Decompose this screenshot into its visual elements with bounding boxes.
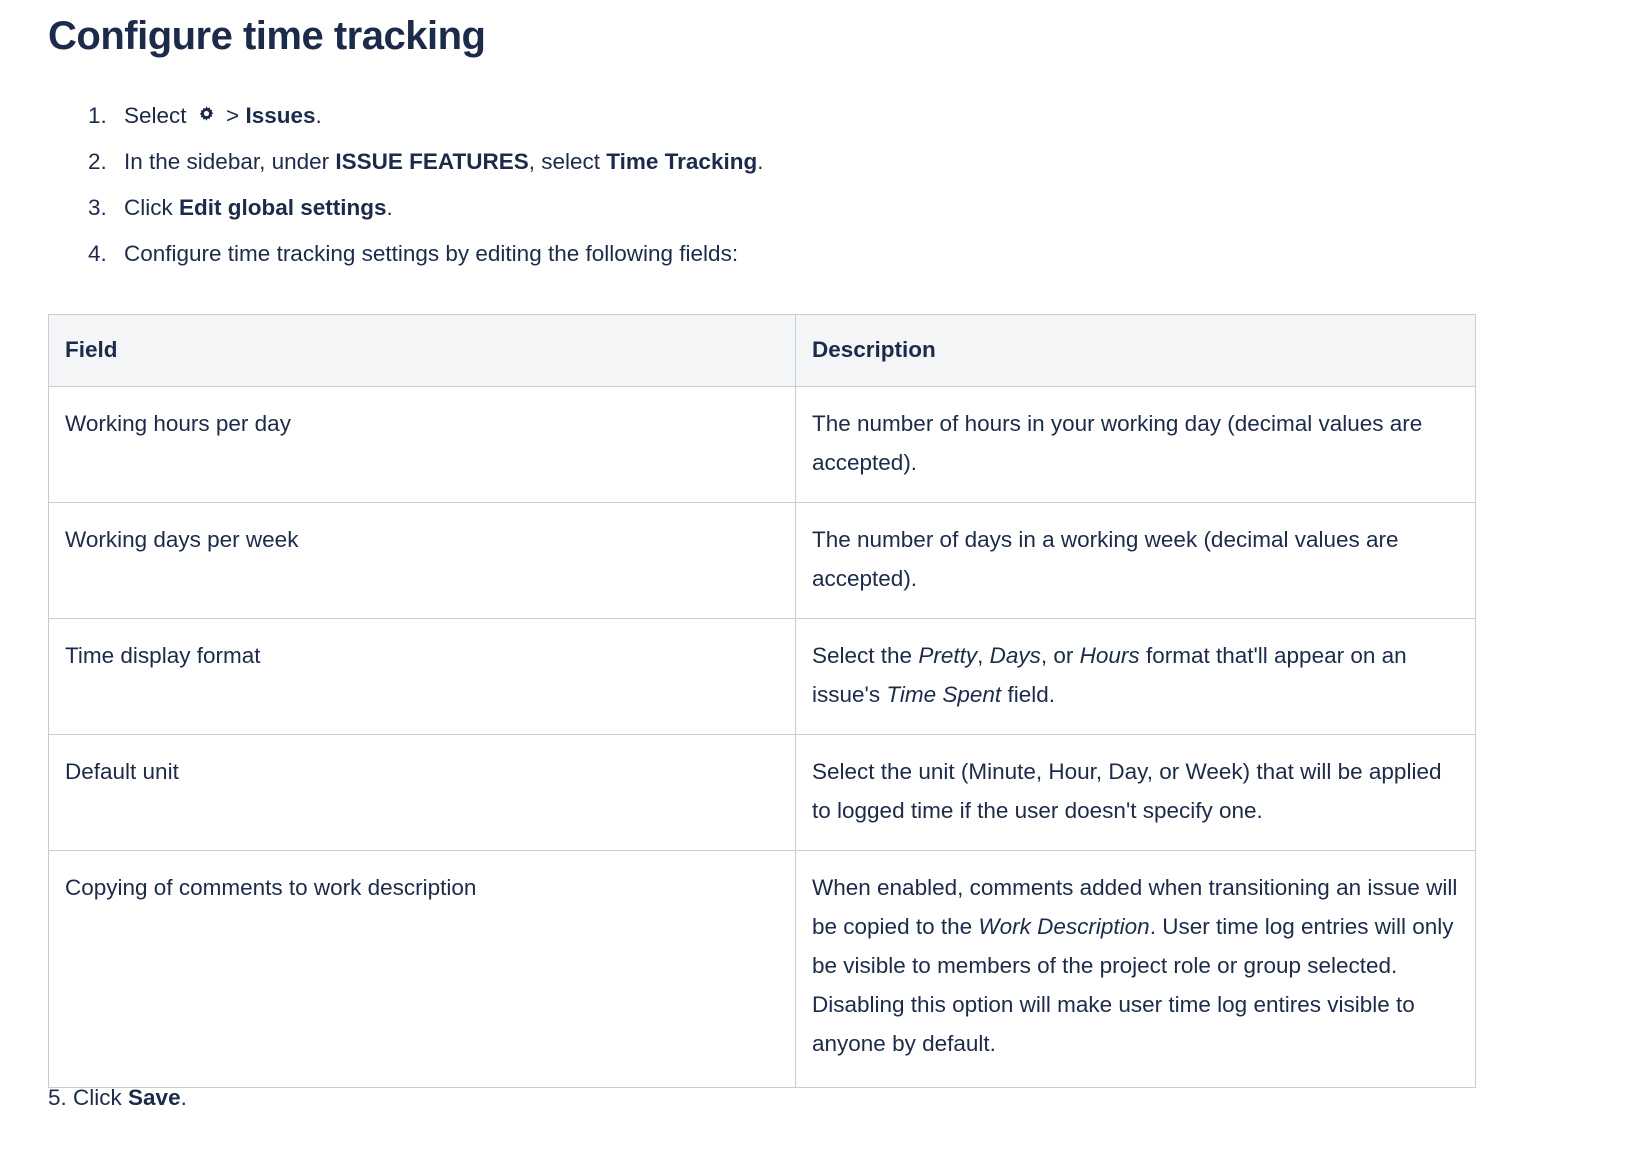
document-page: Configure time tracking 1.Select > Issue… [0,0,1640,1170]
cell-description: Select the Pretty, Days, or Hours format… [796,619,1476,735]
text-run: In the sidebar, under [124,149,335,174]
text-run: The number of days in a working week (de… [812,527,1399,591]
steps-list: 1.Select > Issues.2.In the sidebar, unde… [88,93,1548,277]
table-row: Copying of comments to work descriptionW… [49,851,1476,1088]
table-row: Time display formatSelect the Pretty, Da… [49,619,1476,735]
column-header-description: Description [796,315,1476,387]
step-text: Select > Issues. [124,103,322,128]
emphasis-bold: ISSUE FEATURES [335,149,528,174]
text-run: Select [124,103,193,128]
table-row: Default unitSelect the unit (Minute, Hou… [49,735,1476,851]
text-run: . [316,103,322,128]
cell-description: The number of days in a working week (de… [796,503,1476,619]
text-run: Configure time tracking settings by edit… [124,241,738,266]
step-marker: 1. [88,93,118,139]
text-run: Click [124,195,179,220]
table-body: Working hours per dayThe number of hours… [49,387,1476,1088]
cell-field: Working days per week [49,503,796,619]
text-run: Click [73,1085,128,1110]
page-title: Configure time tracking [48,13,485,59]
cell-field: Copying of comments to work description [49,851,796,1088]
step-item-3: 3.Click Edit global settings. [88,185,1548,231]
text-run: . [181,1085,187,1110]
step-item-1: 1.Select > Issues. [88,93,1548,139]
text-run: . [757,149,763,174]
text-run: . [387,195,393,220]
cell-description: Select the unit (Minute, Hour, Day, or W… [796,735,1476,851]
text-run: , or [1041,643,1080,668]
cell-field: Time display format [49,619,796,735]
table-header-row: Field Description [49,315,1476,387]
text-run: Select the [812,643,918,668]
step-text: Configure time tracking settings by edit… [124,241,738,266]
final-step-marker: 5. [48,1085,73,1110]
step-marker: 4. [88,231,118,277]
emphasis-italic: Work Description [978,914,1149,939]
emphasis-bold: Time Tracking [606,149,757,174]
emphasis-bold: Save [128,1085,181,1110]
step-item-2: 2.In the sidebar, under ISSUE FEATURES, … [88,139,1548,185]
emphasis-bold: Issues [245,103,315,128]
emphasis-bold: Edit global settings [179,195,387,220]
gear-icon[interactable] [196,105,217,126]
step-text: In the sidebar, under ISSUE FEATURES, se… [124,149,763,174]
emphasis-italic: Hours [1080,643,1140,668]
text-run: , [977,643,990,668]
step-marker: 2. [88,139,118,185]
fields-table: Field Description Working hours per dayT… [48,314,1476,1088]
cell-description: The number of hours in your working day … [796,387,1476,503]
emphasis-italic: Time Spent [886,682,1001,707]
cell-description: When enabled, comments added when transi… [796,851,1476,1088]
cell-field: Default unit [49,735,796,851]
emphasis-italic: Days [990,643,1041,668]
text-run: , select [529,149,607,174]
table-header: Field Description [49,315,1476,387]
text-run: field. [1001,682,1055,707]
step-text: Click Edit global settings. [124,195,393,220]
table-row: Working days per weekThe number of days … [49,503,1476,619]
text-run: The number of hours in your working day … [812,411,1422,475]
text-run: Select the unit (Minute, Hour, Day, or W… [812,759,1441,823]
cell-field: Working hours per day [49,387,796,503]
final-step: 5. Click Save. [48,1081,187,1115]
emphasis-italic: Pretty [918,643,977,668]
column-header-field: Field [49,315,796,387]
step-item-4: 4.Configure time tracking settings by ed… [88,231,1548,277]
step-marker: 3. [88,185,118,231]
text-run: > [220,103,246,128]
table-row: Working hours per dayThe number of hours… [49,387,1476,503]
